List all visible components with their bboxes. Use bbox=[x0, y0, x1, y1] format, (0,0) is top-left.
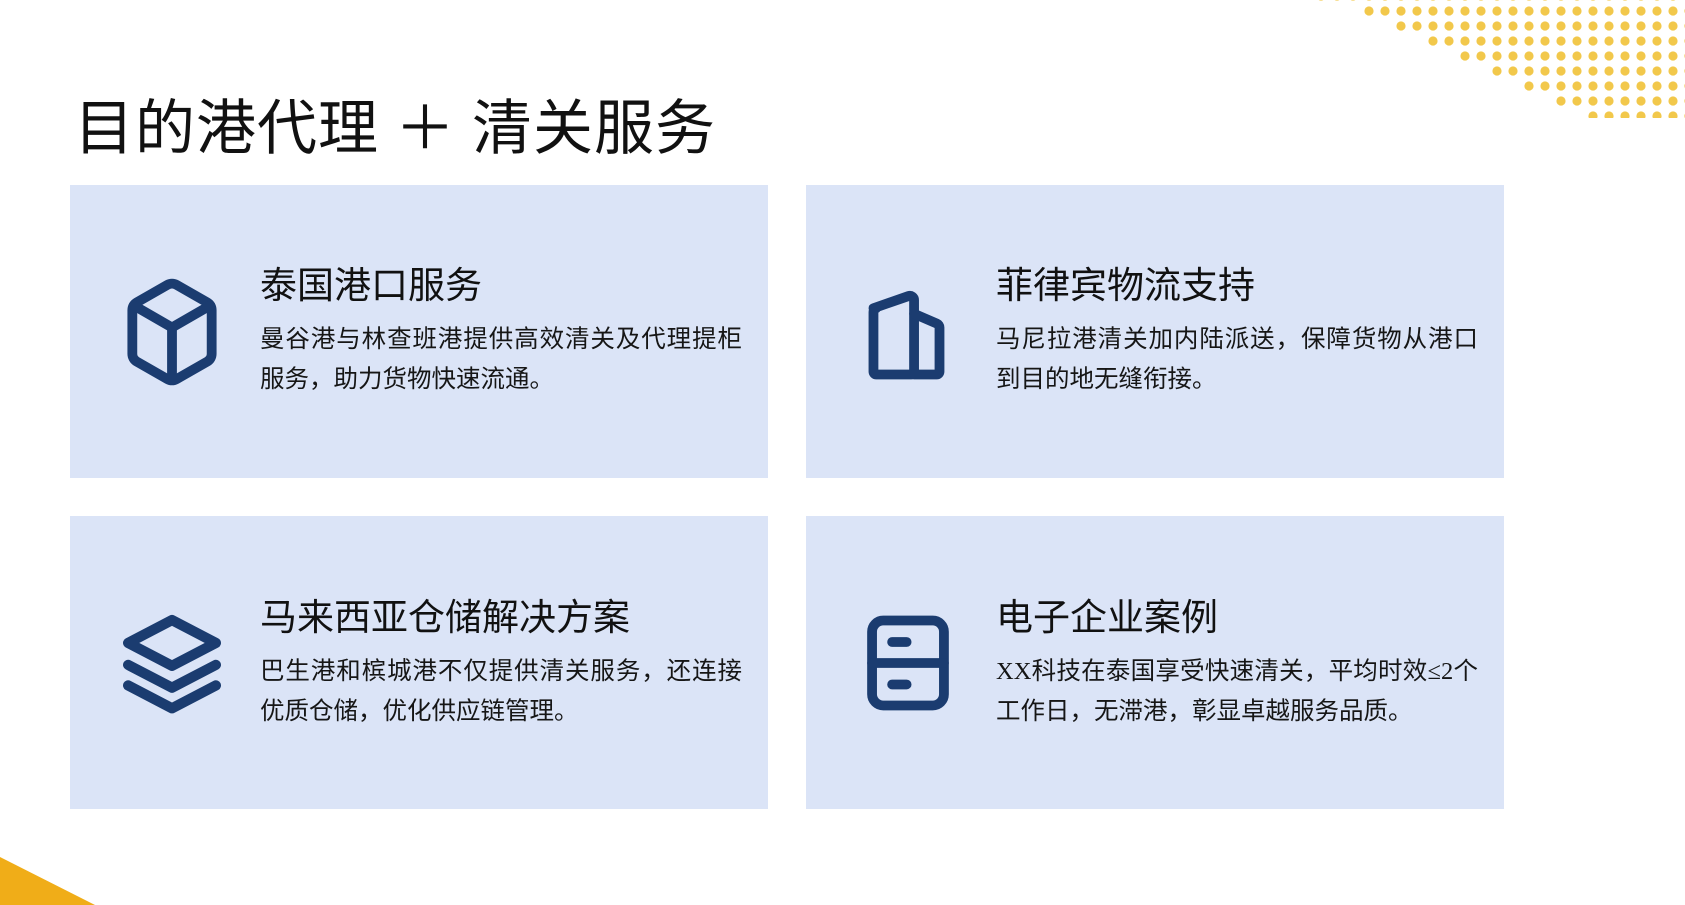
feature-card-description: XX科技在泰国享受快速清关，平均时效≤2个工作日，无滞港，彰显卓越服务品质。 bbox=[996, 652, 1478, 731]
feature-card-electronics-case[interactable]: 电子企业案例 XX科技在泰国享受快速清关，平均时效≤2个工作日，无滞港，彰显卓越… bbox=[806, 516, 1504, 809]
dot-triangle-icon bbox=[1313, 0, 1685, 118]
feature-card-grid: 泰国港口服务 曼谷港与林查班港提供高效清关及代理提柜服务，助力货物快速流通。 菲… bbox=[70, 185, 1615, 809]
box-3d-icon bbox=[106, 266, 238, 398]
slide-root: 目的港代理 ＋ 清关服务 泰国港口服务 曼谷港与林查班港提供高效清关及代理提柜服… bbox=[0, 0, 1685, 905]
feature-card-malaysia-warehouse[interactable]: 马来西亚仓储解决方案 巴生港和槟城港不仅提供清关服务，还连接优质仓储，优化供应链… bbox=[70, 516, 768, 809]
layers-stack-icon bbox=[106, 597, 238, 729]
feature-card-body: 马来西亚仓储解决方案 巴生港和槟城港不仅提供清关服务，还连接优质仓储，优化供应链… bbox=[260, 596, 742, 732]
feature-card-title: 菲律宾物流支持 bbox=[996, 264, 1478, 310]
feature-card-philippines-logistics[interactable]: 菲律宾物流支持 马尼拉港清关加内陆派送，保障货物从港口到目的地无缝衔接。 bbox=[806, 185, 1504, 478]
feature-card-description: 曼谷港与林查班港提供高效清关及代理提柜服务，助力货物快速流通。 bbox=[260, 320, 742, 399]
feature-card-description: 巴生港和槟城港不仅提供清关服务，还连接优质仓储，优化供应链管理。 bbox=[260, 652, 742, 731]
page-title: 目的港代理 ＋ 清关服务 bbox=[74, 98, 716, 161]
feature-card-body: 电子企业案例 XX科技在泰国享受快速清关，平均时效≤2个工作日，无滞港，彰显卓越… bbox=[996, 596, 1478, 732]
feature-card-title: 电子企业案例 bbox=[996, 596, 1478, 642]
feature-card-body: 泰国港口服务 曼谷港与林查班港提供高效清关及代理提柜服务，助力货物快速流通。 bbox=[260, 264, 742, 400]
feature-card-description: 马尼拉港清关加内陆派送，保障货物从港口到目的地无缝衔接。 bbox=[996, 320, 1478, 399]
gold-triangle-icon bbox=[0, 857, 95, 905]
feature-card-body: 菲律宾物流支持 马尼拉港清关加内陆派送，保障货物从港口到目的地无缝衔接。 bbox=[996, 264, 1478, 400]
feature-card-title: 泰国港口服务 bbox=[260, 264, 742, 310]
building-icon bbox=[842, 266, 974, 398]
feature-card-thailand-port[interactable]: 泰国港口服务 曼谷港与林查班港提供高效清关及代理提柜服务，助力货物快速流通。 bbox=[70, 185, 768, 478]
feature-card-title: 马来西亚仓储解决方案 bbox=[260, 596, 742, 642]
server-rack-icon bbox=[842, 597, 974, 729]
